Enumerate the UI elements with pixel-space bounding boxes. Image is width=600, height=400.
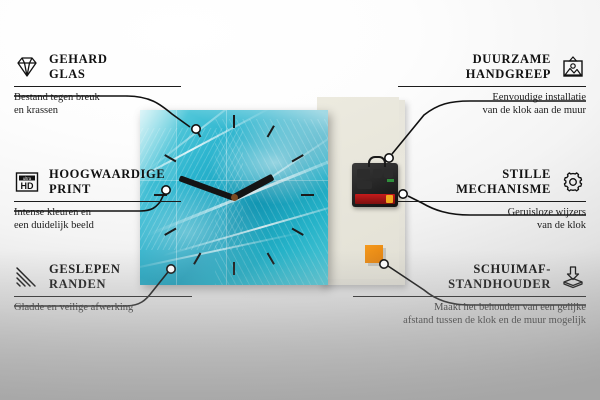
press-down-pad-icon bbox=[560, 265, 586, 289]
mechanism-indicator bbox=[387, 179, 394, 182]
mechanism-hanger bbox=[368, 156, 386, 167]
feature-stille-mechanisme: STILLE MECHANISME Geruisloze wijzers van… bbox=[396, 167, 586, 232]
mechanism-detail bbox=[384, 169, 393, 178]
feature-schuimaf-standhouder: SCHUIMAF- STANDHOUDER Maakt het behouden… bbox=[351, 262, 586, 327]
mechanism-detail bbox=[357, 169, 370, 178]
feature-hoogwaardige-print: ultra HD HOOGWAARDIGE PRINT Intense kleu… bbox=[14, 167, 184, 232]
battery bbox=[355, 194, 395, 204]
divider bbox=[14, 86, 181, 87]
infographic-canvas: GEHARD GLAS Bestand tegen breuk en krass… bbox=[0, 0, 600, 400]
beveled-edges-icon bbox=[14, 265, 40, 289]
feature-subtitle: Geruisloze wijzers van de klok bbox=[396, 207, 586, 232]
feature-geslepen-randen: GESLEPEN RANDEN Gladde en veilige afwerk… bbox=[14, 262, 194, 315]
feature-title: STILLE MECHANISME bbox=[456, 167, 551, 196]
feature-subtitle: Eenvoudige installatie van de klok aan d… bbox=[396, 92, 586, 117]
feature-subtitle: Bestand tegen breuk en krassen bbox=[14, 92, 184, 117]
feature-title: SCHUIMAF- STANDHOUDER bbox=[448, 262, 551, 291]
mechanism-detail bbox=[357, 181, 372, 189]
feature-header: GEHARD GLAS bbox=[14, 52, 184, 81]
hour-tick bbox=[233, 262, 235, 275]
feature-header: GESLEPEN RANDEN bbox=[14, 262, 194, 291]
feature-subtitle: Gladde en veilige afwerking bbox=[14, 302, 194, 315]
divider bbox=[14, 201, 181, 202]
feature-title: GEHARD GLAS bbox=[49, 52, 107, 81]
divider bbox=[398, 86, 586, 87]
feature-title: GESLEPEN RANDEN bbox=[49, 262, 121, 291]
feature-title: HOOGWAARDIGE PRINT bbox=[49, 167, 165, 196]
clock-mechanism bbox=[352, 163, 398, 207]
feature-header: DUURZAME HANDGREEP bbox=[396, 52, 586, 81]
center-cap bbox=[231, 194, 238, 201]
hour-tick bbox=[301, 194, 314, 196]
foam-spacer-pad bbox=[365, 245, 383, 263]
feature-header: STILLE MECHANISME bbox=[396, 167, 586, 196]
feature-header: SCHUIMAF- STANDHOUDER bbox=[351, 262, 586, 291]
feature-gehard-glas: GEHARD GLAS Bestand tegen breuk en krass… bbox=[14, 52, 184, 117]
divider bbox=[14, 296, 192, 297]
divider bbox=[353, 296, 586, 297]
mechanism-detail bbox=[373, 169, 382, 178]
svg-text:HD: HD bbox=[21, 181, 34, 191]
gear-icon bbox=[560, 170, 586, 194]
feature-subtitle: Maakt het behouden van een gelijke afsta… bbox=[351, 302, 586, 327]
picture-hanger-icon bbox=[560, 55, 586, 79]
feature-subtitle: Intense kleuren en een duidelijk beeld bbox=[14, 207, 184, 232]
divider bbox=[398, 201, 586, 202]
ultra-hd-icon: ultra HD bbox=[14, 170, 40, 194]
feature-duurzame-handgreep: DUURZAME HANDGREEP Eenvoudige installati… bbox=[396, 52, 586, 117]
feature-title: DUURZAME HANDGREEP bbox=[466, 52, 551, 81]
diamond-icon bbox=[14, 55, 40, 79]
feature-header: ultra HD HOOGWAARDIGE PRINT bbox=[14, 167, 184, 196]
hour-tick bbox=[233, 115, 235, 128]
